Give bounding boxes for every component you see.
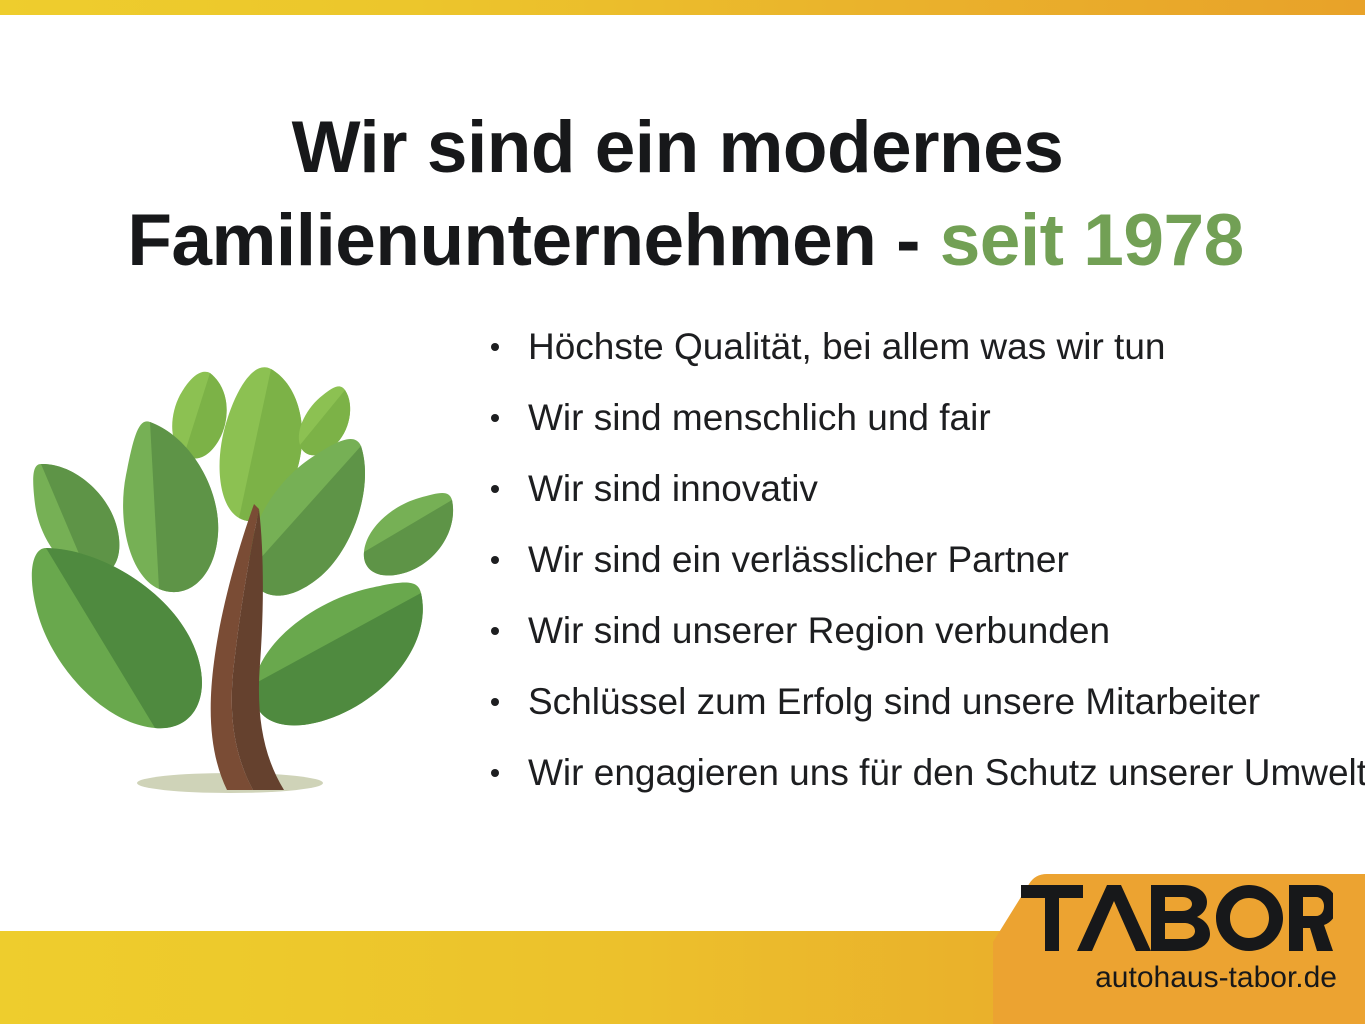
list-item-label: Wir sind unserer Region verbunden [528, 610, 1110, 651]
bullet-dot-icon [491, 556, 499, 564]
tree-icon [28, 352, 462, 814]
headline-accent-year: seit 1978 [940, 200, 1244, 281]
list-item: Wir sind menschlich und fair [488, 396, 1358, 467]
brand-logo-panel[interactable]: autohaus-tabor.de [973, 862, 1365, 1024]
letter-R [1289, 885, 1333, 951]
bullet-dot-icon [491, 769, 499, 777]
slide-canvas: Wir sind ein modernes Familienunternehme… [0, 0, 1365, 1024]
list-item: Schlüssel zum Erfolg sind unsere Mitarbe… [488, 680, 1358, 751]
list-item-label: Wir engagieren uns für den Schutz unsere… [528, 752, 1365, 793]
tabor-wordmark [1021, 885, 1333, 951]
letter-T [1021, 885, 1083, 951]
top-accent-bar [0, 0, 1365, 15]
values-list: Höchste Qualität, bei allem was wir tun … [488, 325, 1358, 822]
headline-line-1: Wir sind ein modernes [0, 101, 1365, 194]
bullet-dot-icon [491, 698, 499, 706]
list-item: Wir sind innovativ [488, 467, 1358, 538]
headline-line-2-main: Familienunternehmen - [127, 200, 939, 281]
letter-B [1151, 885, 1210, 951]
bullet-dot-icon [491, 627, 499, 635]
list-item-label: Wir sind menschlich und fair [528, 397, 991, 438]
list-item: Höchste Qualität, bei allem was wir tun [488, 325, 1358, 396]
bullet-dot-icon [491, 414, 499, 422]
list-item-label: Höchste Qualität, bei allem was wir tun [528, 326, 1166, 367]
list-item-label: Wir sind ein verlässlicher Partner [528, 539, 1069, 580]
list-item: Wir sind unserer Region verbunden [488, 609, 1358, 680]
letter-A [1077, 885, 1151, 951]
letter-O [1216, 885, 1283, 951]
leaf-far-right-small [364, 493, 453, 576]
list-item: Wir engagieren uns für den Schutz unsere… [488, 751, 1358, 822]
page-title: Wir sind ein modernes Familienunternehme… [0, 101, 1365, 287]
headline-line-2: Familienunternehmen - seit 1978 [0, 194, 1365, 287]
list-item-label: Wir sind innovativ [528, 468, 818, 509]
bullet-dot-icon [491, 485, 499, 493]
list-item: Wir sind ein verlässlicher Partner [488, 538, 1358, 609]
bullet-dot-icon [491, 343, 499, 351]
logo-tagline[interactable]: autohaus-tabor.de [973, 960, 1365, 996]
leaf-right-lower [253, 583, 422, 726]
list-item-label: Schlüssel zum Erfolg sind unsere Mitarbe… [528, 681, 1260, 722]
